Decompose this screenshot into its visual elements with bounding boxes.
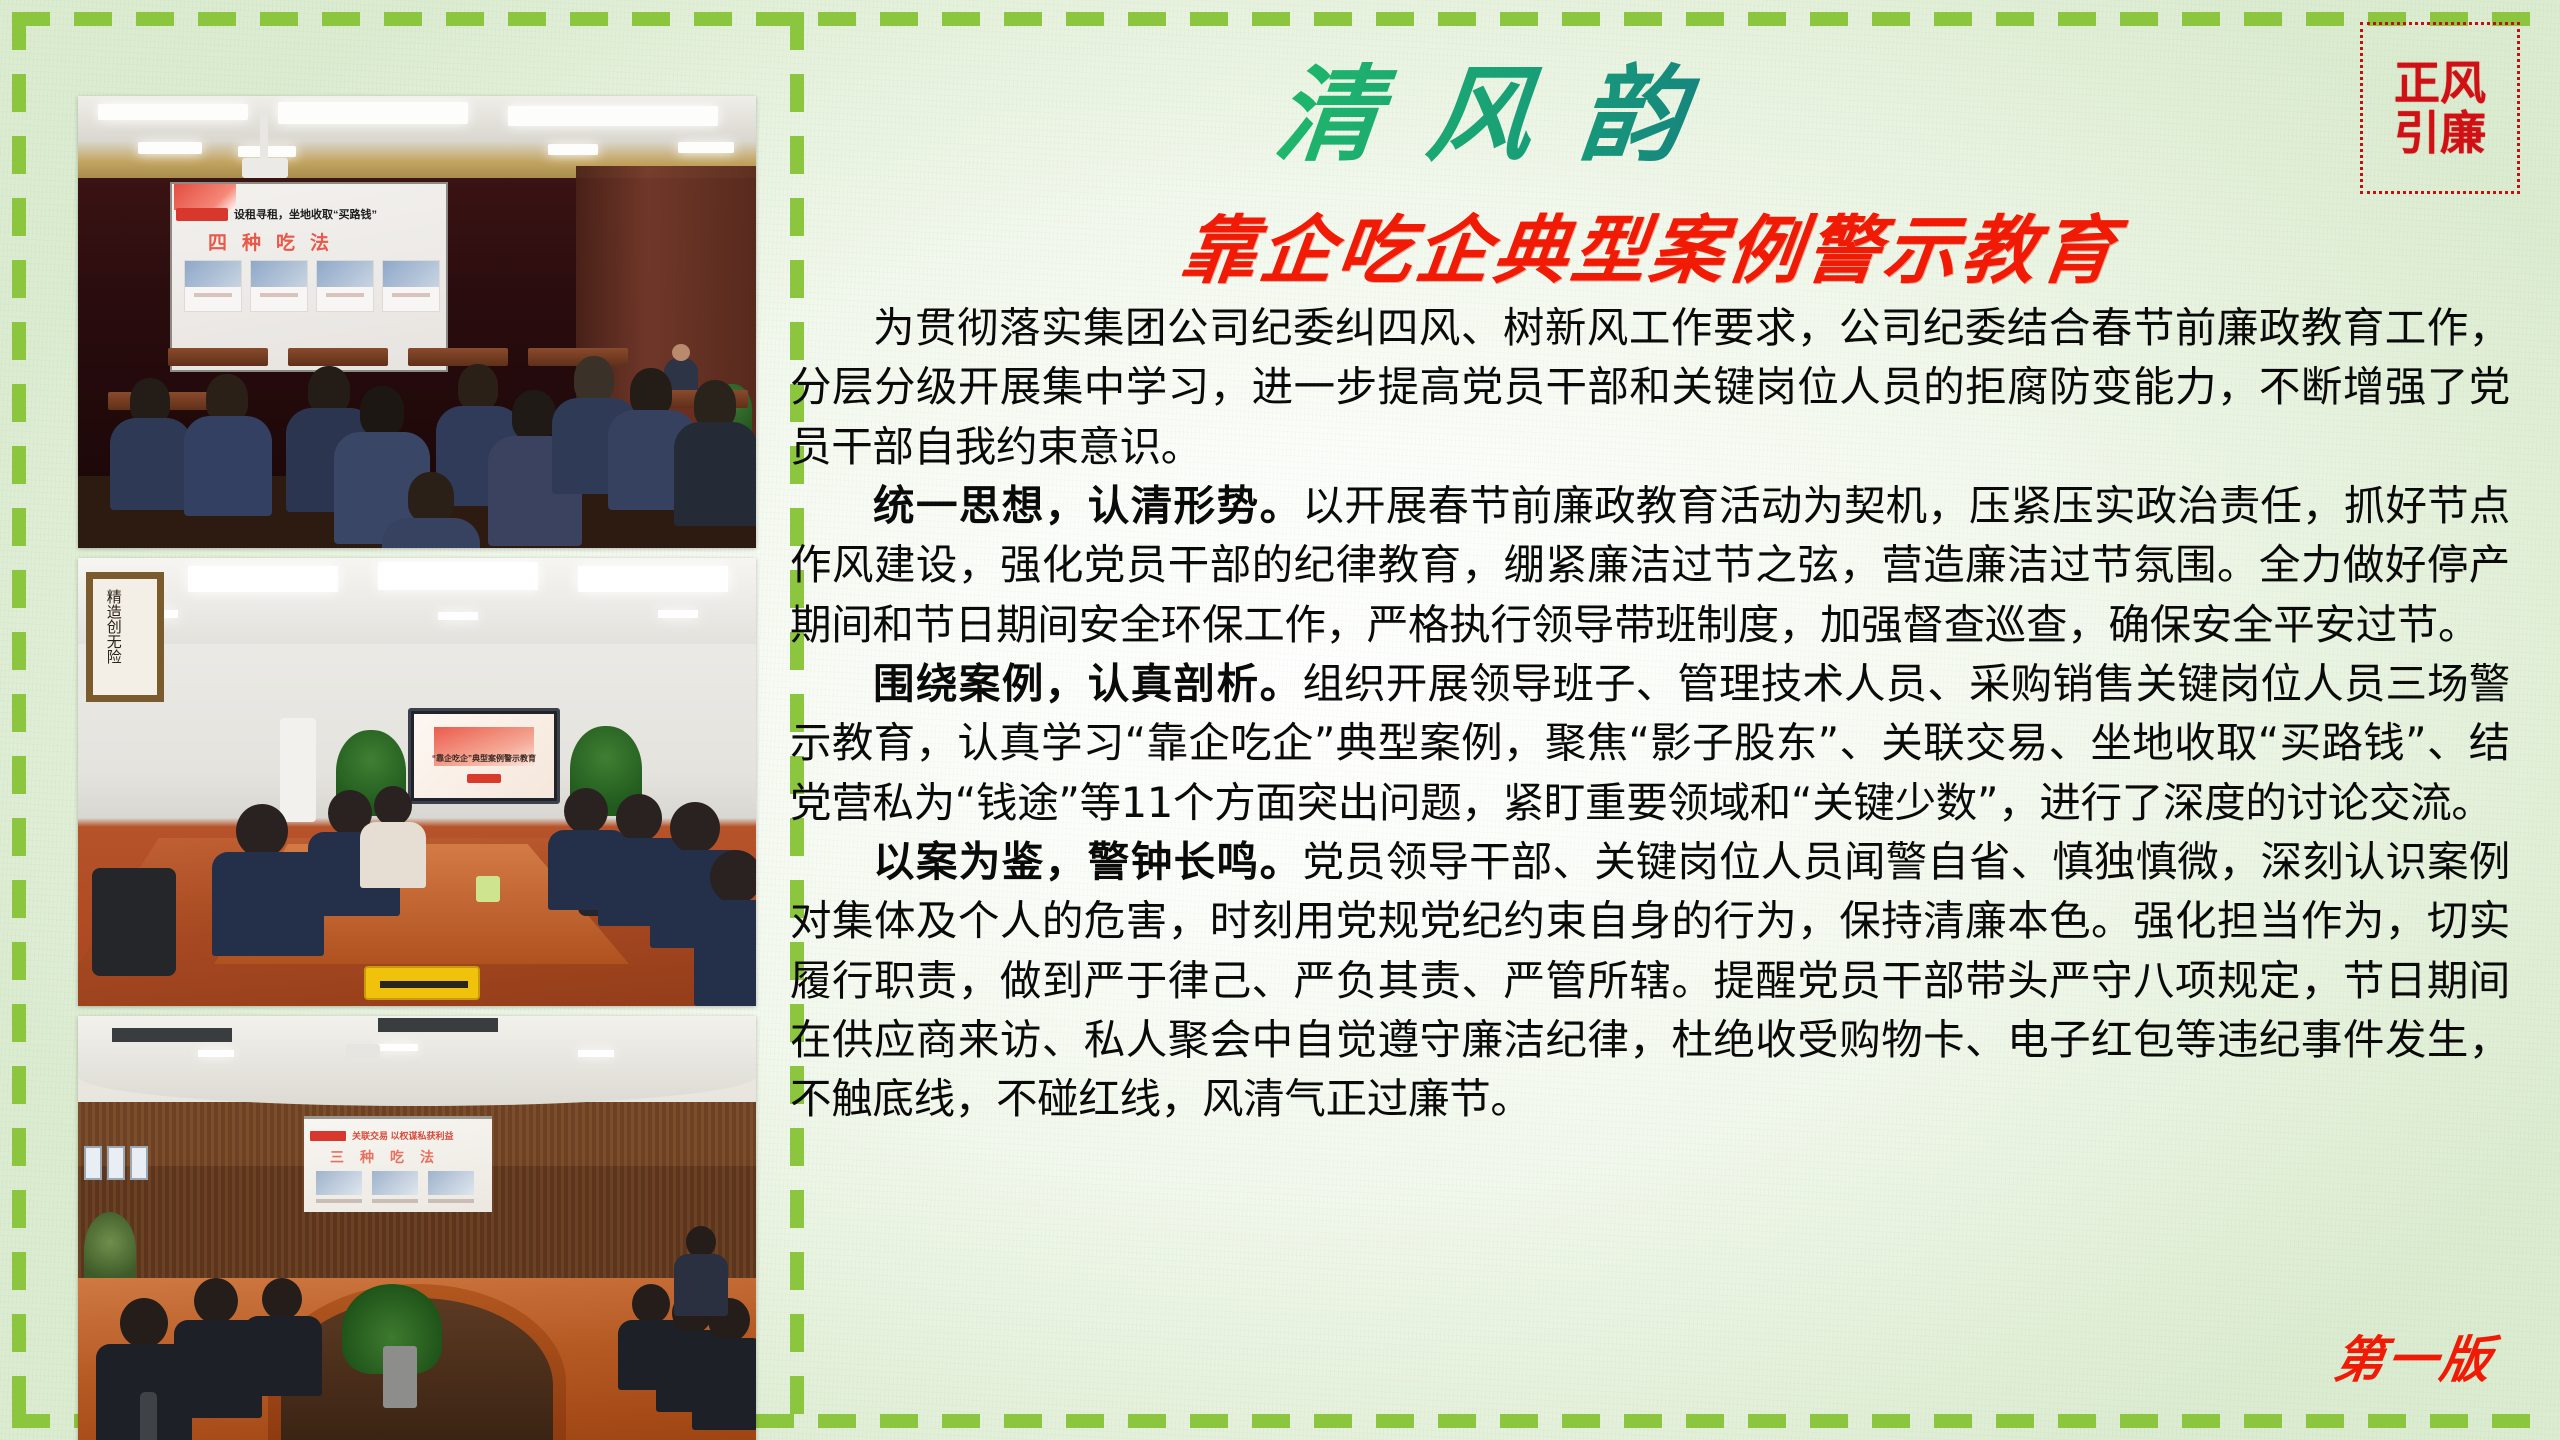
seal-char-2: 引廉	[2394, 109, 2486, 157]
screen-button	[467, 774, 501, 782]
paragraph-lead: 统一思想，认清形势。	[873, 481, 1303, 530]
article-paragraph: 以案为鉴，警钟长鸣。党员领导干部、关键岗位人员闻警自省、慎独慎微，深刻认识案例对…	[790, 832, 2510, 1129]
ceiling	[78, 558, 756, 644]
display-screen: “靠企吃企”典型案例警示教育	[408, 708, 560, 804]
page-subtitle: 靠企吃企典型案例警示教育	[783, 191, 2518, 298]
slide-title-text: 设租寻租，坐地收取“买路钱”	[234, 206, 377, 222]
slide-headline-text: 三种吃法	[330, 1147, 450, 1167]
page-number-mark: 第一版	[2330, 1320, 2499, 1392]
slide-caption-row	[316, 1199, 474, 1203]
attendee	[360, 786, 430, 882]
slide-card-row	[316, 1171, 474, 1195]
masthead-seal: 正风 引廉	[2360, 22, 2520, 194]
seal-char-1: 正风	[2394, 59, 2486, 107]
suggestion-box	[364, 966, 480, 1000]
photo-column: 设租寻租，坐地收取“买路钱” 四种吃法	[78, 96, 756, 1440]
arched-ceiling	[78, 1016, 756, 1106]
slide-card-row	[184, 260, 440, 312]
paragraph-lead: 围绕案例，认真剖析。	[873, 659, 1303, 708]
corner-plant	[84, 1212, 136, 1288]
paragraph-lead: 以案为鉴，警钟长鸣。	[873, 837, 1303, 886]
seal-line-1: 正风	[2394, 59, 2486, 107]
attendee	[244, 1278, 324, 1394]
presenter	[674, 1226, 728, 1316]
flag-graphic	[174, 184, 236, 210]
wall-art-text: 精造创无险	[103, 589, 122, 664]
photo-boardroom-procurement-sales-session: 关联交易 以权谋私获利益 三种吃法	[78, 1016, 756, 1440]
screen-title-text: “靠企吃企”典型案例警示教育	[414, 753, 554, 764]
article-body: 为贯彻落实集团公司纪委纠四风、树新风工作要求，公司纪委结合春节前廉政教育工作，分…	[790, 298, 2510, 1129]
slide-tag-chip	[176, 208, 228, 221]
newsletter-poster: 设租寻租，坐地收取“买路钱” 四种吃法	[0, 0, 2560, 1440]
slide-tag-chip	[310, 1131, 346, 1141]
slide-title-text: 关联交易 以权谋私获利益	[352, 1129, 454, 1142]
attendee	[692, 1298, 756, 1428]
slide-headline-text: 四种吃法	[208, 228, 344, 255]
photo-auditorium-warning-education-session: 设租寻租，坐地收取“买路钱” 四种吃法	[78, 96, 756, 548]
page-title: 清风韵	[997, 30, 2013, 181]
article-paragraph: 统一思想，认清形势。以开展春节前廉政教育活动为契机，压紧压实政治责任，抓好节点作…	[790, 476, 2510, 654]
tissue-box	[476, 876, 500, 902]
paragraph-text: 为贯彻落实集团公司纪委纠四风、树新风工作要求，公司纪委结合春节前廉政教育工作，分…	[790, 303, 2510, 471]
article-paragraph: 围绕案例，认真剖析。组织开展领导班子、管理技术人员、采购销售关键岗位人员三场警示…	[790, 654, 2510, 832]
thermos-flask	[140, 1392, 157, 1440]
attendee	[694, 850, 756, 1000]
seal-line-2: 引廉	[2394, 109, 2486, 157]
projection-screen: 设租寻租，坐地收取“买路钱” 四种吃法	[170, 182, 448, 372]
center-plant-pot	[383, 1346, 417, 1408]
projection-screen: 关联交易 以权谋私获利益 三种吃法	[304, 1116, 492, 1212]
projector-mount	[260, 114, 268, 162]
ceiling-projector	[346, 1044, 380, 1059]
article-paragraph: 为贯彻落实集团公司纪委纠四风、树新风工作要求，公司纪委结合春节前廉政教育工作，分…	[790, 298, 2510, 476]
content-column: 正风 引廉 清风韵 靠企吃企典型案例警示教育 为贯彻落实集团公司纪委纠四风、树新…	[790, 16, 2520, 1420]
photo-conference-room-leadership-study: 精造创无险 “靠企吃企”典型案例警示教育	[78, 558, 756, 1006]
screen-content: “靠企吃企”典型案例警示教育	[414, 714, 554, 798]
wall-calligraphy-art: 精造创无险	[86, 572, 164, 702]
audience-seating	[78, 346, 756, 548]
projector	[242, 158, 288, 178]
wall-certificates	[84, 1146, 148, 1180]
frame-border-left	[12, 12, 26, 1428]
